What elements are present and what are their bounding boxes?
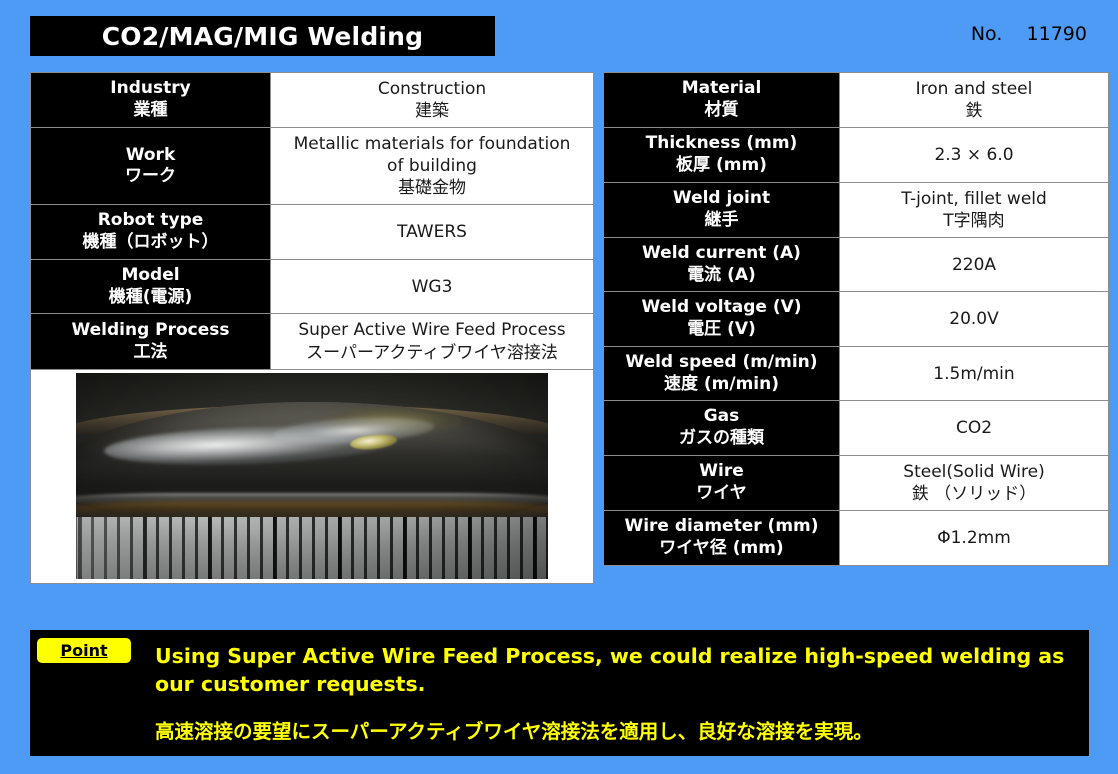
row-value-weld-joint: T-joint, fillet weld T字隅肉 [840,182,1109,237]
left-spec-table-body: Industry 業種 Construction 建築 Work ワーク Met… [31,73,594,584]
row-label-work: Work ワーク [31,128,271,205]
label-en: Weld speed (m/min) [608,352,835,374]
table-row: Weld speed (m/min) 速度 (m/min) 1.5m/min [604,346,1109,401]
label-en: Wire [608,461,835,483]
value-line: CO2 [846,417,1102,439]
value-line: Super Active Wire Feed Process [277,319,587,341]
row-label-weld-current: Weld current (A) 電流 (A) [604,237,840,292]
value-line: 鉄 [846,100,1102,122]
left-spec-table: Industry 業種 Construction 建築 Work ワーク Met… [30,72,594,584]
label-en: Welding Process [35,320,266,342]
label-ja: 工法 [35,342,266,364]
row-label-gas: Gas ガスの種類 [604,401,840,456]
table-row: Work ワーク Metallic materials for foundati… [31,128,594,205]
label-ja: 電流 (A) [608,265,835,287]
value-line: WG3 [277,276,587,298]
label-en: Weld joint [608,188,835,210]
weld-bead-macro-photo [76,373,548,579]
row-label-welding-process: Welding Process 工法 [31,314,271,369]
right-spec-table-body: Material 材質 Iron and steel 鉄 Thickness (… [604,73,1109,566]
photo-ruler-shading [76,517,548,579]
table-row: Industry 業種 Construction 建築 [31,73,594,128]
row-value-wire: Steel(Solid Wire) 鉄 （ソリッド） [840,455,1109,510]
row-label-thickness: Thickness (mm) 板厚 (mm) [604,128,840,183]
label-en: Material [608,78,835,100]
table-row: Model 機種(電源) WG3 [31,259,594,314]
label-en: Gas [608,406,835,428]
spec-tables-area: Industry 業種 Construction 建築 Work ワーク Met… [0,70,1118,618]
row-value-model: WG3 [271,259,594,314]
label-en: Thickness (mm) [608,133,835,155]
row-value-welding-process: Super Active Wire Feed Process スーパーアクティブ… [271,314,594,369]
value-line: Iron and steel [846,78,1102,100]
point-badge: Point [37,638,131,663]
table-row: Weld voltage (V) 電圧 (V) 20.0V [604,292,1109,347]
label-en: Weld voltage (V) [608,297,835,319]
table-row: Thickness (mm) 板厚 (mm) 2.3 × 6.0 [604,128,1109,183]
label-ja: 継手 [608,210,835,232]
row-label-weld-joint: Weld joint 継手 [604,182,840,237]
row-label-weld-speed: Weld speed (m/min) 速度 (m/min) [604,346,840,401]
label-en: Wire diameter (mm) [608,516,835,538]
page-header: CO2/MAG/MIG Welding No. 11790 [0,0,1118,70]
label-ja: 板厚 (mm) [608,155,835,177]
label-en: Industry [35,78,266,100]
label-en: Weld current (A) [608,243,835,265]
value-line: Steel(Solid Wire) [846,461,1102,483]
label-en: Work [35,145,266,167]
label-ja: 機種（ロボット） [35,232,266,254]
row-value-work: Metallic materials for foundation of bui… [271,128,594,205]
row-value-weld-current: 220A [840,237,1109,292]
row-label-industry: Industry 業種 [31,73,271,128]
point-text-block: Using Super Active Wire Feed Process, we… [155,642,1075,744]
table-row-photo [31,369,594,583]
table-row: Wire ワイヤ Steel(Solid Wire) 鉄 （ソリッド） [604,455,1109,510]
point-badge-label: Point [60,643,107,659]
row-label-wire-diameter: Wire diameter (mm) ワイヤ径 (mm) [604,511,840,566]
table-row: Welding Process 工法 Super Active Wire Fee… [31,314,594,369]
value-line: 20.0V [846,308,1102,330]
value-line: T字隅肉 [846,210,1102,232]
table-row: Material 材質 Iron and steel 鉄 [604,73,1109,128]
row-label-wire: Wire ワイヤ [604,455,840,510]
label-ja: 速度 (m/min) [608,374,835,396]
table-row: Robot type 機種（ロボット） TAWERS [31,205,594,260]
page-title: CO2/MAG/MIG Welding [102,24,424,49]
row-label-weld-voltage: Weld voltage (V) 電圧 (V) [604,292,840,347]
value-line: Construction [277,78,587,100]
table-row: Gas ガスの種類 CO2 [604,401,1109,456]
row-value-thickness: 2.3 × 6.0 [840,128,1109,183]
label-ja: ワイヤ [608,483,835,505]
point-text-en: Using Super Active Wire Feed Process, we… [155,642,1075,699]
row-value-weld-voltage: 20.0V [840,292,1109,347]
label-ja: ワーク [35,166,266,188]
row-value-weld-speed: 1.5m/min [840,346,1109,401]
row-label-material: Material 材質 [604,73,840,128]
row-value-material: Iron and steel 鉄 [840,73,1109,128]
point-section: Point Using Super Active Wire Feed Proce… [30,630,1089,756]
row-value-robot-type: TAWERS [271,205,594,260]
value-line: TAWERS [277,221,587,243]
point-text-ja: 高速溶接の要望にスーパーアクティブワイヤ溶接法を適用し、良好な溶接を実現。 [155,719,1075,744]
table-row: Wire diameter (mm) ワイヤ径 (mm) Φ1.2mm [604,511,1109,566]
value-line: スーパーアクティブワイヤ溶接法 [277,342,587,364]
weld-photo-cell [31,369,594,583]
value-line: Φ1.2mm [846,527,1102,549]
label-ja: 業種 [35,100,266,122]
table-row: Weld joint 継手 T-joint, fillet weld T字隅肉 [604,182,1109,237]
label-ja: 材質 [608,100,835,122]
label-ja: ガスの種類 [608,428,835,450]
table-row: Weld current (A) 電流 (A) 220A [604,237,1109,292]
label-en: Robot type [35,210,266,232]
row-value-industry: Construction 建築 [271,73,594,128]
document-number: No. 11790 [971,25,1087,44]
value-line: 1.5m/min [846,363,1102,385]
label-ja: 電圧 (V) [608,319,835,341]
label-ja: ワイヤ径 (mm) [608,538,835,560]
value-line: Metallic materials for foundation [277,133,587,155]
right-spec-table: Material 材質 Iron and steel 鉄 Thickness (… [603,72,1109,566]
value-line: 220A [846,254,1102,276]
value-line: T-joint, fillet weld [846,188,1102,210]
row-label-robot-type: Robot type 機種（ロボット） [31,205,271,260]
row-value-wire-diameter: Φ1.2mm [840,511,1109,566]
label-ja: 機種(電源) [35,287,266,309]
value-line: 鉄 （ソリッド） [846,483,1102,505]
title-banner: CO2/MAG/MIG Welding [30,16,495,56]
label-en: Model [35,265,266,287]
weld-photo-wrap [31,370,593,583]
row-value-gas: CO2 [840,401,1109,456]
value-line: 基礎金物 [277,177,587,199]
row-label-model: Model 機種(電源) [31,259,271,314]
value-line: 2.3 × 6.0 [846,144,1102,166]
value-line: 建築 [277,100,587,122]
value-line: of building [277,155,587,177]
